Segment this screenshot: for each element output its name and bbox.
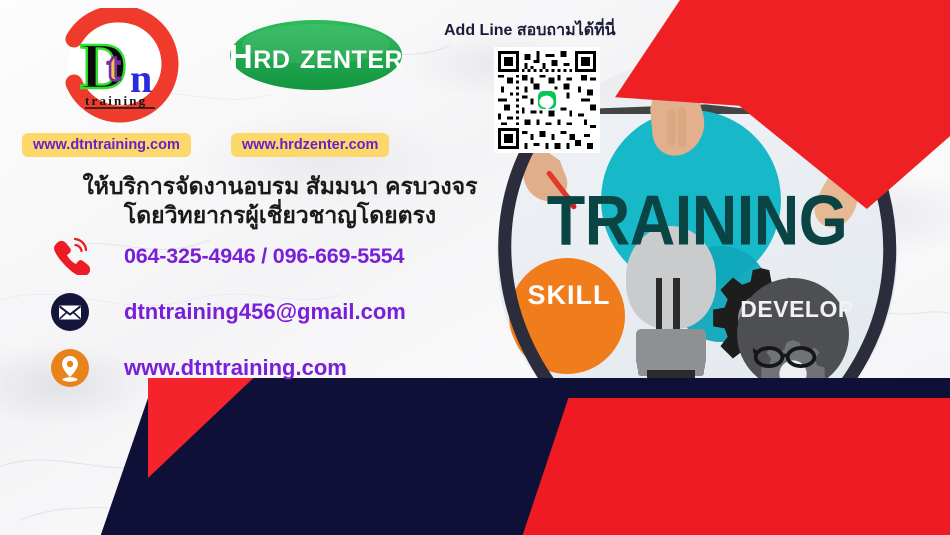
contact-row-website: www.dtntraining.com — [46, 344, 506, 392]
add-line-label-latin: Add Line — [444, 22, 517, 39]
svg-text:t: t — [107, 44, 121, 89]
hrd-zenter-logo: HRD ZENTER — [228, 16, 404, 94]
contact-website-value[interactable]: www.dtntraining.com — [124, 355, 347, 381]
badge-hrd-website[interactable]: www.hrdzenter.com — [231, 133, 389, 157]
word-training: TRAINING — [497, 186, 897, 257]
email-icon — [46, 290, 94, 334]
phone-icon — [46, 234, 94, 278]
location-icon — [46, 346, 94, 390]
word-skill: SKILL — [517, 282, 621, 309]
contact-phone-value[interactable]: 064-325-4946 / 096-669-5554 — [124, 244, 404, 269]
contact-row-phone: 064-325-4946 / 096-669-5554 — [46, 232, 506, 280]
headline-line-1: ให้บริการจัดงานอบรม สัมมนา ครบวงจร — [60, 172, 500, 201]
headline-line-2: โดยวิทยากรผู้เชี่ยวชาญโดยตรง — [60, 201, 500, 230]
add-line-label-thai: สอบถามได้ที่นี่ — [517, 22, 616, 39]
red-shape-bottom-right — [520, 398, 950, 535]
contact-row-email: dtntraining456@gmail.com — [46, 288, 506, 336]
contact-email-value[interactable]: dtntraining456@gmail.com — [124, 299, 406, 325]
orange-circle — [509, 258, 625, 374]
badge-dtn-website[interactable]: www.dtntraining.com — [22, 133, 191, 157]
word-develop: DEVELOP — [729, 298, 865, 321]
line-qr-code[interactable] — [494, 47, 600, 153]
contact-list: 064-325-4946 / 096-669-5554 dtntraining4… — [46, 232, 506, 400]
promotional-banner: TRAINING SKILL DEVELOP D t n training — [0, 0, 950, 535]
add-line-label: Add Line สอบถามได้ที่นี่ — [444, 18, 616, 43]
dtn-training-logo: D t n training — [52, 8, 188, 126]
page-title: ให้บริการจัดงานอบรม สัมมนา ครบวงจร โดยวิ… — [60, 172, 500, 231]
svg-text:training: training — [85, 93, 147, 108]
